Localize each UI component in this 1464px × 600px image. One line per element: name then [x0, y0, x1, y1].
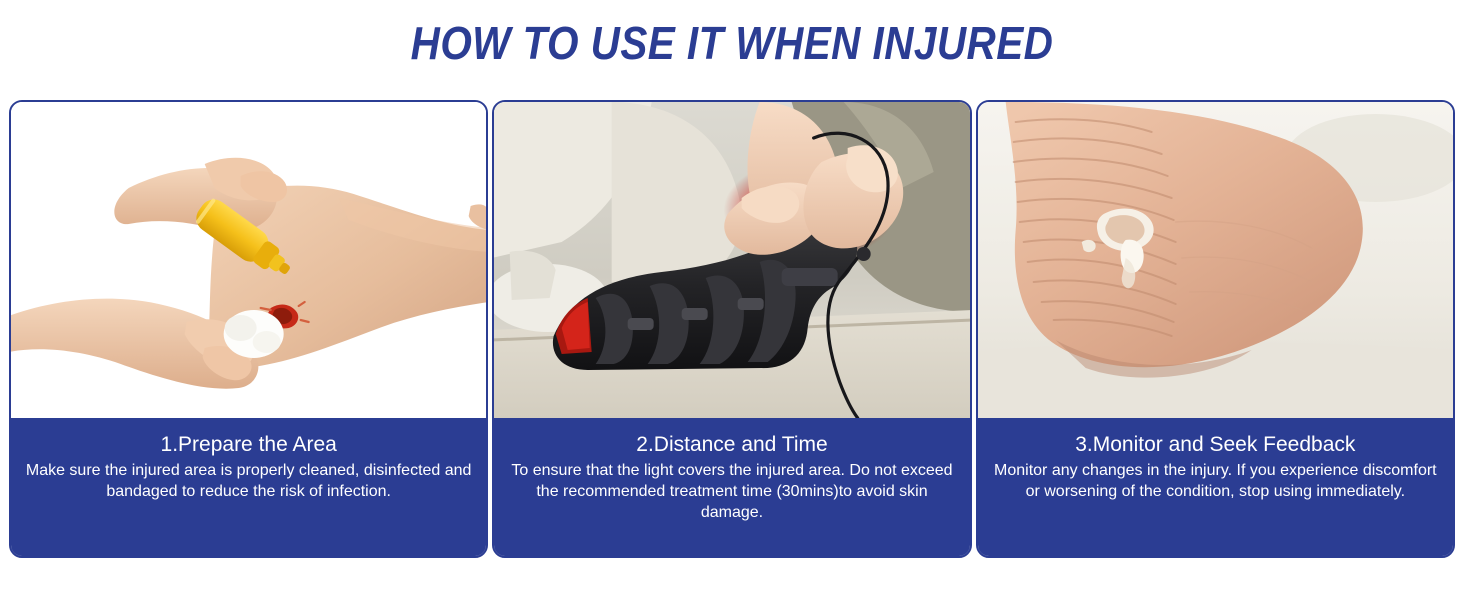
step-card-2: 2.Distance and Time To ensure that the l…: [492, 100, 971, 558]
injured-heel-close-up-photo: [978, 102, 1453, 418]
step-card-3-caption: 3.Monitor and Seek Feedback Monitor any …: [978, 418, 1453, 556]
steps-card-strip: 1.Prepare the Area Make sure the injured…: [9, 100, 1455, 558]
step-card-2-body: To ensure that the light covers the inju…: [506, 460, 957, 523]
step-card-2-title: 2.Distance and Time: [506, 432, 957, 458]
step-card-3-body: Monitor any changes in the injury. If yo…: [990, 460, 1441, 502]
page-title: HOW TO USE IT WHEN INJURED: [88, 16, 1376, 70]
applying-antiseptic-to-foot-wound-photo: [11, 102, 486, 418]
red-light-therapy-foot-wrap-photo: [494, 102, 969, 418]
step-card-1-body: Make sure the injured area is properly c…: [23, 460, 474, 502]
step-card-1-caption: 1.Prepare the Area Make sure the injured…: [11, 418, 486, 556]
step-card-3: 3.Monitor and Seek Feedback Monitor any …: [976, 100, 1455, 558]
step-card-3-title: 3.Monitor and Seek Feedback: [990, 432, 1441, 458]
step-card-2-caption: 2.Distance and Time To ensure that the l…: [494, 418, 969, 556]
step-card-1: 1.Prepare the Area Make sure the injured…: [9, 100, 488, 558]
step-card-1-title: 1.Prepare the Area: [23, 432, 474, 458]
